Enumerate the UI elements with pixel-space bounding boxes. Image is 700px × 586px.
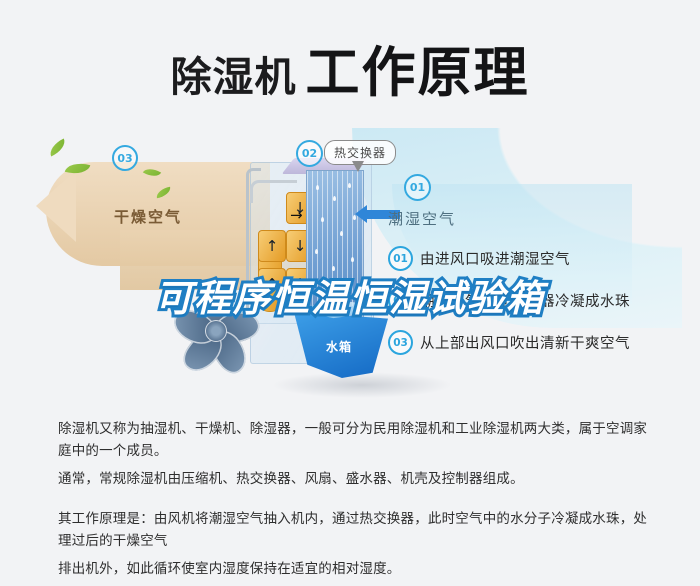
step-text: 由进风口吸进潮湿空气 [420,248,570,269]
dry-air-label: 干燥空气 [114,206,182,227]
fan-hub [205,320,227,342]
paragraph-two-line-one: 其工作原理是：由风机将潮湿空气抽入机内，通过热交换器，此时空气中的水分子冷凝成水… [58,508,658,552]
leaf-icon [47,139,69,157]
paragraph-one-line-one: 除湿机又称为抽湿机、干燥机、除湿器，一般可分为民用除湿机和工业除湿机两大类，属于… [58,418,658,462]
infographic-page: 除湿机工作原理 03 干燥空气 ↑ ↑ ↓ ↓ ↓ → [0,0,700,566]
body-copy: 除湿机又称为抽湿机、干燥机、除湿器，一般可分为民用除湿机和工业除湿机两大类，属于… [58,418,658,586]
coil-segment: ↑ [258,230,286,262]
water-tank-label: 水箱 [326,338,352,355]
watermark-banner: 可程序恒温恒湿试验箱 [0,268,700,322]
page-title: 除湿机工作原理 [0,28,700,107]
airflow-arrow-icon: → [290,206,303,224]
step-badge: 03 [388,330,413,355]
title-part-one: 除湿机 [171,53,297,101]
up-arrow-icon: ↑ [266,239,279,254]
diagram-badge-01: 01 [404,174,431,201]
title-part-two: 工作原理 [306,41,530,104]
paragraph-two-line-two: 排出机外，如此循环使室内湿度保持在适宜的相对湿度。 [58,558,658,580]
dry-air-arrow-head [36,170,76,242]
down-arrow-icon: ↓ [294,239,307,254]
moist-air-label: 潮湿空气 [388,208,456,229]
callout-pointer [352,161,364,172]
ground-shadow [272,372,452,398]
list-item: 03 从上部出风口吹出清新干爽空气 [388,330,688,355]
diagram-badge-02: 02 [296,140,323,167]
paragraph-one-line-two: 通常，常规除湿机由压缩机、热交换器、风扇、盛水器、机壳及控制器组成。 [58,468,658,490]
step-text: 从上部出风口吹出清新干爽空气 [420,332,630,353]
diagram-badge-03: 03 [112,145,138,171]
